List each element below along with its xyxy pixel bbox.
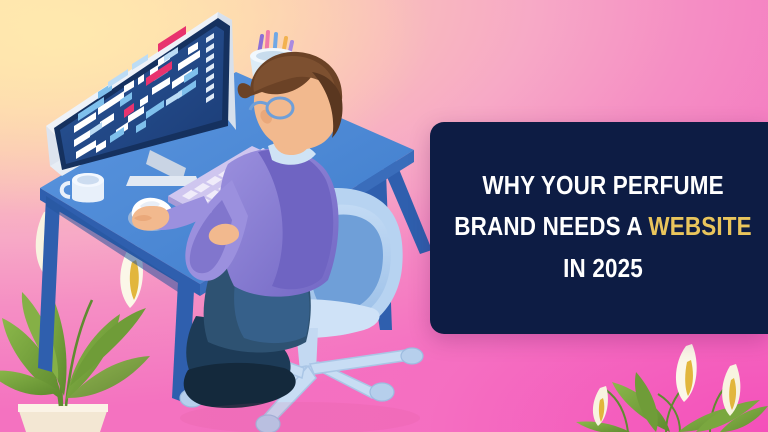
hero-illustration bbox=[0, 0, 460, 432]
headline-line-3: IN 2025 bbox=[454, 249, 752, 290]
headline: WHY YOUR PERFUME BRAND NEEDS A WEBSITE I… bbox=[454, 166, 752, 290]
headline-highlight: WEBSITE bbox=[648, 213, 751, 241]
headline-line-1: WHY YOUR PERFUME bbox=[454, 166, 752, 207]
banner-image: WHY YOUR PERFUME BRAND NEEDS A WEBSITE I… bbox=[0, 0, 768, 432]
plant-right bbox=[570, 330, 768, 432]
headline-panel: WHY YOUR PERFUME BRAND NEEDS A WEBSITE I… bbox=[430, 122, 768, 334]
headline-line-2-text: BRAND NEEDS A bbox=[454, 213, 648, 241]
headline-line-2: BRAND NEEDS A WEBSITE bbox=[454, 207, 752, 248]
